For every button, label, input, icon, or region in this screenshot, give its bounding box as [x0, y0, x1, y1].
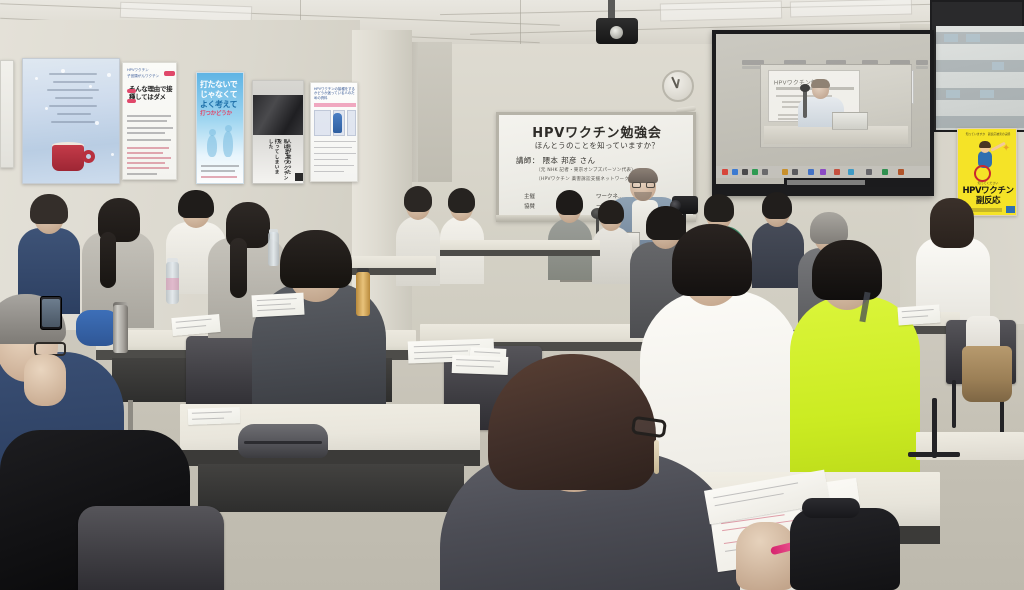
smartphone-screen[interactable] — [42, 299, 60, 327]
poster-yellow-sub: 知ってください — [962, 181, 1014, 185]
attendee-right-white-hair — [672, 224, 752, 296]
screen-laptop — [832, 112, 868, 130]
chair-front-left — [78, 506, 224, 590]
handout-desk-left — [251, 293, 304, 318]
poster-info-figure — [333, 113, 342, 133]
poster-yellow-figure-hair — [979, 141, 991, 148]
water-bottle-label — [166, 278, 179, 290]
attendee-right-darkblue-hair — [762, 192, 792, 219]
chair-foot-front-right — [908, 452, 960, 457]
poster-mug-handle — [82, 150, 95, 163]
screen-microphone-stand — [803, 88, 807, 118]
attendee-mid-3-hair — [556, 190, 583, 215]
poster-photo-image — [253, 95, 304, 135]
whiteboard-subtitle: ほんとうのことを知っていますか？ — [508, 140, 686, 151]
poster-information: HPVワクチンの接種をするかどうか迷っている人のための資料 — [310, 82, 358, 182]
poster-blue-line4: 打つかどうか — [200, 109, 232, 117]
bag-strap — [802, 498, 860, 518]
poster-yellow-logo — [1006, 206, 1015, 213]
whiteboard-host-label: 主催 — [524, 192, 535, 200]
attendee-back-left-4-ponytail — [230, 238, 247, 298]
attendee-back-left-2-ponytail — [100, 232, 116, 288]
whiteboard-affiliation-1: （元 NHK 記者・東京オンブズパーソン代表） — [536, 167, 636, 173]
attendee-mid-1-body — [396, 216, 440, 286]
handout-desk-far-left — [452, 355, 509, 375]
whiteboard-title: HPVワクチン勉強会 — [508, 122, 686, 141]
poster-yellow-top-text: 知っていますか 副反応被害の実態 — [962, 133, 1014, 137]
attendee-right-yellow-hair — [812, 240, 882, 300]
backpack-floor — [790, 508, 900, 590]
seminar-room-photo: HPVワクチン勉強会 — [0, 0, 1024, 590]
poster-red-mug — [52, 145, 84, 171]
attendee-right-darkblue-body — [752, 222, 804, 288]
poster-yellow-title: HPVワクチン副反応 — [960, 186, 1016, 206]
poster-hpv-line2: 子宮頸がんワクチン — [127, 74, 159, 79]
screen-taskbar — [716, 166, 930, 178]
window-glass — [936, 26, 1024, 130]
poster-partial-left — [0, 60, 14, 168]
whiteboard-lecturer: 講師： 隈本 邦彦 さん — [516, 155, 595, 166]
poster-hpv-badge — [164, 71, 175, 76]
handout-desk-right — [897, 305, 940, 326]
presenter-hair — [628, 168, 658, 183]
handout-front-left-desk — [188, 407, 241, 425]
poster-info-title: HPVワクチンの接種をするかどうか迷っている人のための資料 — [314, 87, 356, 100]
poster-photo-testimony: 人生が変わった 私はHPVワクチンを 打ってしまいました — [252, 80, 304, 184]
poster-hpv-line1: HPVワクチン — [127, 68, 149, 73]
attendee-far-right-white-hair — [930, 198, 974, 248]
attendee-mid-1-hair — [404, 186, 432, 212]
poster-hpv-vaccine-reason: HPVワクチン 子宮頸がんワクチン そんな理由で接種してはダメ — [122, 62, 177, 180]
chair-leg-front-right — [932, 398, 937, 458]
projector-lens-icon — [610, 26, 623, 39]
poster-photo-vertical-3: 打ってしまいました — [268, 139, 280, 179]
earring-icon — [654, 440, 659, 474]
attendee-right-green-hair — [704, 194, 734, 222]
attendee-front-left-hand — [24, 354, 66, 406]
screen-address-bar-text — [787, 180, 865, 185]
desk-front-large-panel — [198, 464, 464, 512]
attendee-mid-2-hair — [448, 188, 475, 213]
whiteboard-sponsor-label: 協賛 — [524, 202, 535, 210]
screen-microphone-icon — [800, 84, 810, 92]
thermos-bottle — [113, 305, 128, 353]
pouch-zipper[interactable] — [244, 441, 322, 444]
woven-tote-bag — [962, 346, 1012, 402]
poster-info-bar — [314, 103, 356, 107]
attendee-front-dark-hair — [280, 230, 352, 288]
attendee-front-hand — [736, 522, 796, 590]
attendee-right-grey-hair — [646, 206, 686, 240]
glasses-icon — [632, 182, 641, 188]
poster-think-carefully: 打たないで じゃなくて よく考えて 打つかどうか — [196, 72, 244, 184]
attendee-back-left-1-hair — [30, 194, 68, 224]
tea-bottle — [356, 272, 370, 316]
wheelchair-icon — [974, 165, 991, 182]
water-bottle-2 — [268, 232, 279, 266]
screen-speaker-hair — [811, 79, 830, 88]
attendee-back-left-3-hair — [178, 190, 214, 218]
attendee-back-mid-hair — [598, 200, 624, 224]
desk-edge-back-center — [440, 250, 600, 256]
chair-leg-right-2 — [952, 380, 956, 428]
glasses-icon-right — [646, 182, 655, 188]
